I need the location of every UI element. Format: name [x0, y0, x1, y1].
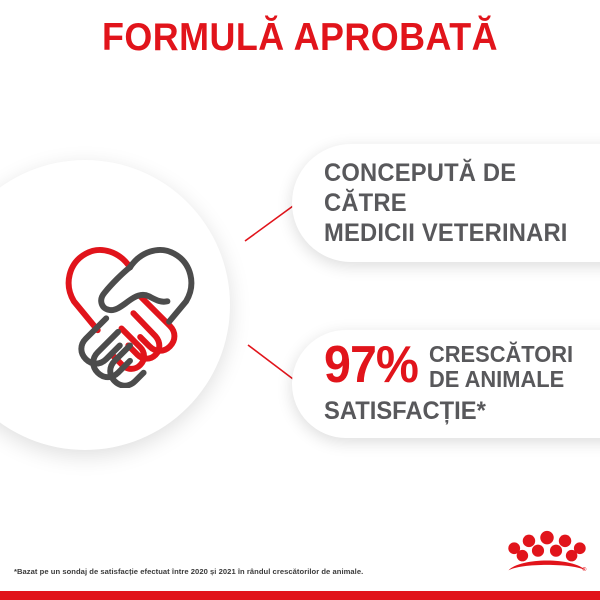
footnote-text: *Bazat pe un sondaj de satisfacție efect…	[14, 567, 363, 576]
bottom-accent-bar	[0, 591, 600, 600]
stat-audience: CRESCĂTORI DE ANIMALE	[429, 342, 581, 392]
stat-percentage: 97%	[324, 340, 418, 390]
stat-audience-line-1: CRESCĂTORI	[429, 342, 573, 367]
benefit-line-3: MEDICII VETERINARI	[324, 218, 600, 248]
connector-line-top	[245, 206, 293, 241]
registered-trademark-mark: ®	[582, 566, 587, 573]
benefit-line-1: CONCEPUTĂ DE	[324, 158, 600, 188]
stat-caption: SATISFACȚIE*	[324, 396, 600, 426]
promo-banner: FORMULĂ APROBATĂ	[0, 0, 600, 600]
stat-row: 97% CRESCĂTORI DE ANIMALE	[324, 342, 600, 392]
stat-audience-line-2: DE ANIMALE	[429, 367, 573, 392]
benefit-line-2: CĂTRE	[324, 188, 600, 218]
benefit-card-satisfaction: 97% CRESCĂTORI DE ANIMALE SATISFACȚIE*	[292, 330, 600, 438]
handshake-heart-icon	[45, 218, 215, 388]
benefit-card-veterinarians: CONCEPUTĂ DE CĂTRE MEDICII VETERINARI	[292, 144, 600, 262]
royal-canin-crown-logo: ®	[506, 530, 588, 578]
connector-line-bottom	[248, 345, 293, 379]
page-title: FORMULĂ APROBATĂ	[24, 16, 576, 60]
